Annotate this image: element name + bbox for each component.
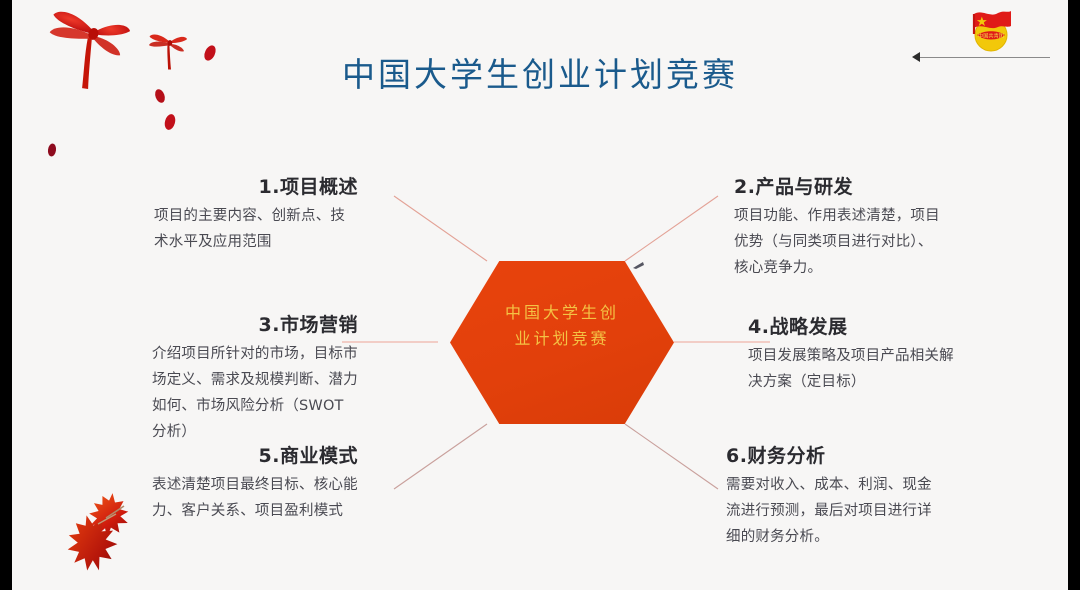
topic-item-5-heading: 5.商业模式: [152, 441, 358, 468]
topic-item-1: 1.项目概述 项目的主要内容、创新点、技术水平及应用范围: [154, 172, 358, 255]
cursor-artifact-icon: [633, 262, 645, 270]
topic-item-6-body: 需要对收入、成本、利润、现金流进行预测，最后对项目进行详细的财务分析。: [726, 472, 942, 550]
topic-item-1-heading: 1.项目概述: [154, 172, 358, 199]
topic-item-2: 2.产品与研发 项目功能、作用表述清楚，项目优势（与同类项目进行对比）、核心竞争…: [734, 172, 946, 281]
topic-item-3-heading: 3.市场营销: [152, 310, 358, 337]
topic-item-1-body: 项目的主要内容、创新点、技术水平及应用范围: [154, 203, 358, 255]
topic-item-6: 6.财务分析 需要对收入、成本、利润、现金流进行预测，最后对项目进行详细的财务分…: [726, 441, 942, 550]
left-letterbox-bar: [0, 0, 12, 590]
topic-item-2-heading: 2.产品与研发: [734, 172, 946, 199]
topic-item-5: 5.商业模式 表述清楚项目最终目标、核心能力、客户关系、项目盈利模式: [152, 441, 358, 524]
presentation-slide: 中国大学生创业计划竞赛 中国大学生创 业计划竞赛 1.项目概述 项目的主要内容、…: [12, 0, 1068, 590]
right-letterbox-bar: [1068, 0, 1080, 590]
pointer-line: [920, 57, 1050, 58]
slide-stage: 中国大学生创业计划竞赛 中国大学生创 业计划竞赛 1.项目概述 项目的主要内容、…: [0, 0, 1080, 590]
topic-item-3-body: 介绍项目所针对的市场，目标市场定义、需求及规模判断、潜力如何、市场风险分析（SW…: [152, 341, 358, 445]
topic-item-3: 3.市场营销 介绍项目所针对的市场，目标市场定义、需求及规模判断、潜力如何、市场…: [152, 310, 358, 445]
topic-item-4-body: 项目发展策略及项目产品相关解决方案（定目标）: [748, 343, 960, 395]
topic-item-4: 4.战略发展 项目发展策略及项目产品相关解决方案（定目标）: [748, 312, 960, 395]
pointer-arrow-icon: [912, 52, 920, 62]
topic-item-4-heading: 4.战略发展: [748, 312, 960, 339]
communist-youth-league-emblem-icon: 中国共青团: [964, 4, 1018, 54]
topic-item-5-body: 表述清楚项目最终目标、核心能力、客户关系、项目盈利模式: [152, 472, 358, 524]
topic-item-2-body: 项目功能、作用表述清楚，项目优势（与同类项目进行对比）、核心竞争力。: [734, 203, 946, 281]
svg-text:中国共青团: 中国共青团: [978, 31, 1004, 39]
topic-item-6-heading: 6.财务分析: [726, 441, 942, 468]
